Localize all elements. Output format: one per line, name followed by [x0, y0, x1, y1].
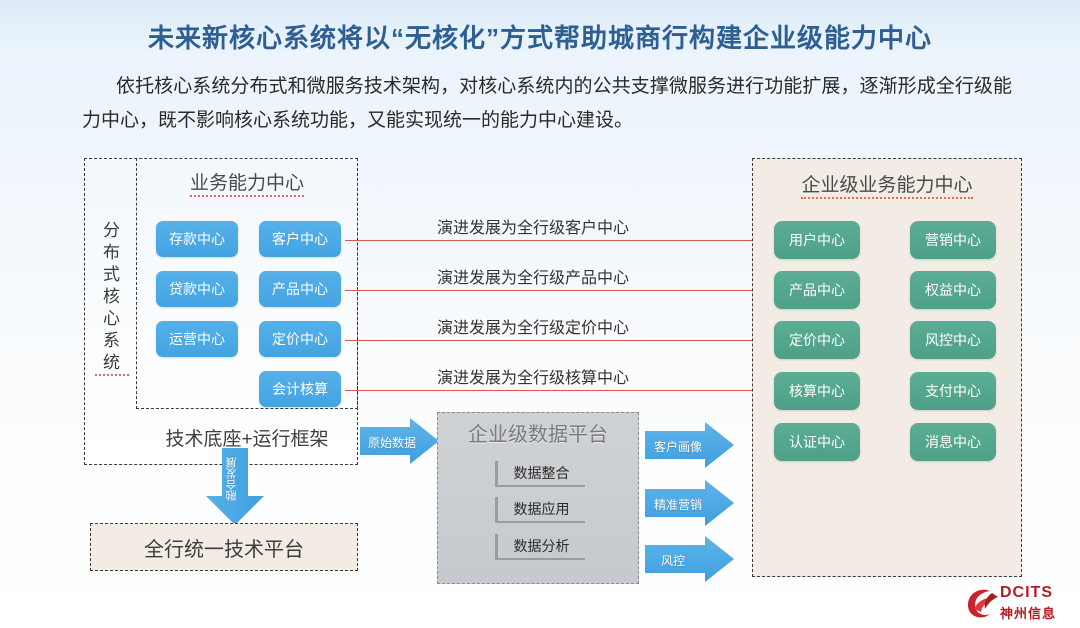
core-center-deposit[interactable]: 存款中心 [156, 221, 238, 257]
ent-center-auth[interactable]: 认证中心 [774, 423, 860, 461]
enterprise-capability-title-text: 企业级业务能力中心 [801, 170, 972, 199]
core-center-accounting[interactable]: 会计核算 [259, 371, 341, 407]
logo-text-en: DCITS [1000, 584, 1053, 602]
data-platform-item-analysis[interactable]: 数据分析 [495, 534, 585, 560]
ent-center-marketing[interactable]: 营销中心 [910, 221, 996, 259]
customer-profile-arrow-label: 客户画像 [654, 438, 702, 455]
ent-center-payment[interactable]: 支付中心 [910, 372, 996, 410]
data-platform-title: 企业级数据平台 [437, 418, 639, 447]
evolution-line-accounting [345, 390, 758, 391]
distributed-core-label: 分布式核心系统 [95, 220, 129, 376]
ent-center-user[interactable]: 用户中心 [774, 221, 860, 259]
ent-center-accounting[interactable]: 核算中心 [774, 372, 860, 410]
evolution-line-customer [345, 240, 758, 241]
fusion-arrow-label: 融合发展 [224, 455, 240, 501]
ent-center-message[interactable]: 消息中心 [910, 423, 996, 461]
core-center-product[interactable]: 产品中心 [259, 271, 341, 307]
distributed-core-label-text: 分布式核心系统 [95, 220, 129, 376]
evolution-label-pricing: 演进发展为全行级定价中心 [437, 314, 629, 338]
evolution-label-product: 演进发展为全行级产品中心 [437, 264, 629, 288]
core-center-pricing[interactable]: 定价中心 [259, 321, 341, 357]
evolution-line-pricing [345, 340, 758, 341]
core-center-loan[interactable]: 贷款中心 [156, 271, 238, 307]
business-capability-title: 业务能力中心 [136, 168, 358, 197]
page-title: 未来新核心系统将以“无核化”方式帮助城商行构建企业级能力中心 [0, 18, 1080, 55]
data-platform-item-integration[interactable]: 数据整合 [495, 461, 585, 487]
core-center-customer[interactable]: 客户中心 [259, 221, 341, 257]
unified-tech-platform: 全行统一技术平台 [90, 523, 358, 571]
raw-data-arrow-label: 原始数据 [368, 434, 416, 451]
business-capability-title-text: 业务能力中心 [190, 168, 304, 197]
evolution-label-accounting: 演进发展为全行级核算中心 [437, 364, 629, 388]
data-platform-item-application[interactable]: 数据应用 [495, 497, 585, 523]
logo-text-cn: 神州信息 [1000, 603, 1056, 622]
slide-canvas: 未来新核心系统将以“无核化”方式帮助城商行构建企业级能力中心 依托核心系统分布式… [0, 0, 1080, 628]
risk-control-arrow-icon [645, 536, 735, 582]
ent-center-rights[interactable]: 权益中心 [910, 271, 996, 309]
ent-center-product[interactable]: 产品中心 [774, 271, 860, 309]
page-subtitle: 依托核心系统分布式和微服务技术架构，对核心系统内的公共支撑微服务进行功能扩展，逐… [82, 70, 1012, 138]
risk-control-arrow-label: 风控 [661, 552, 685, 569]
evolution-label-customer: 演进发展为全行级客户中心 [437, 214, 629, 238]
precision-marketing-arrow-label: 精准营销 [654, 496, 702, 513]
enterprise-capability-title: 企业级业务能力中心 [752, 170, 1022, 199]
evolution-line-product [345, 290, 758, 291]
core-center-operation[interactable]: 运营中心 [156, 321, 238, 357]
ent-center-risk[interactable]: 风控中心 [910, 321, 996, 359]
ent-center-pricing[interactable]: 定价中心 [774, 321, 860, 359]
